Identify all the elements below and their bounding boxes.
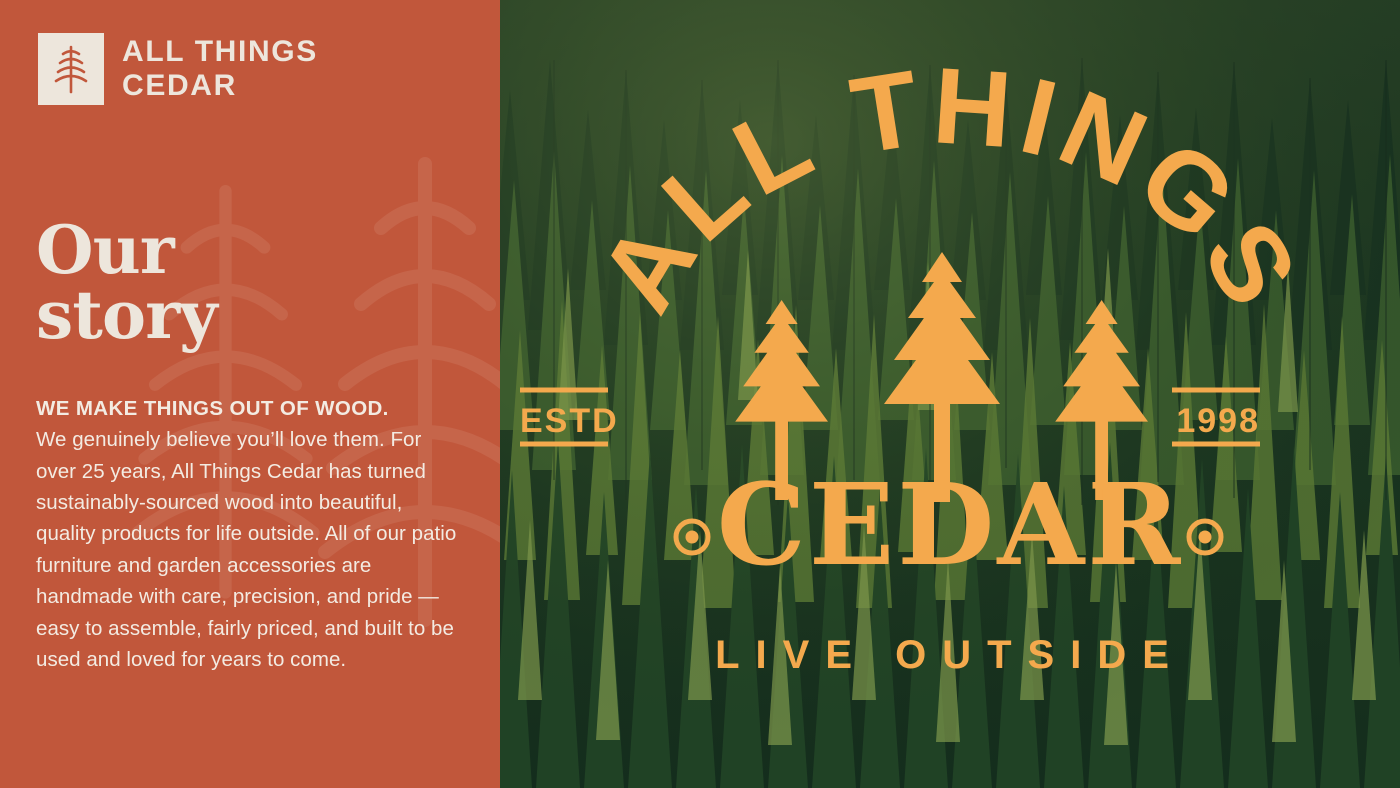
- ring-dot-center-icon: [1199, 531, 1212, 544]
- established-year-block: 1998: [1172, 390, 1260, 444]
- established-label: ESTD: [520, 402, 619, 440]
- brand-name-text: ALL THINGS CEDAR: [122, 35, 318, 102]
- ring-dot-center-icon: [686, 531, 699, 544]
- cedar-badge-lockup: ALL THINGS: [500, 0, 1400, 788]
- story-paragraph: We genuinely believe you’ll love them. F…: [36, 428, 456, 671]
- cedar-tree-icon: [38, 33, 104, 105]
- established-label-block: ESTD: [520, 390, 619, 444]
- brand-logo[interactable]: ALL THINGS CEDAR: [38, 33, 318, 105]
- left-story-panel: ALL THINGS CEDAR Our story WE MAKE THING…: [0, 0, 500, 788]
- established-year: 1998: [1176, 402, 1260, 440]
- badge-tagline: LIVE OUTSIDE: [715, 633, 1185, 677]
- about-hero-section: ALL THINGS CEDAR Our story WE MAKE THING…: [0, 0, 1400, 788]
- story-body: WE MAKE THINGS OUT OF WOOD. We genuinely…: [36, 393, 460, 675]
- badge-wordmark: CEDAR: [717, 460, 1184, 591]
- page-title: Our story: [36, 218, 217, 347]
- story-lede: WE MAKE THINGS OUT OF WOOD.: [36, 393, 460, 424]
- right-image-panel: ALL THINGS: [500, 0, 1400, 788]
